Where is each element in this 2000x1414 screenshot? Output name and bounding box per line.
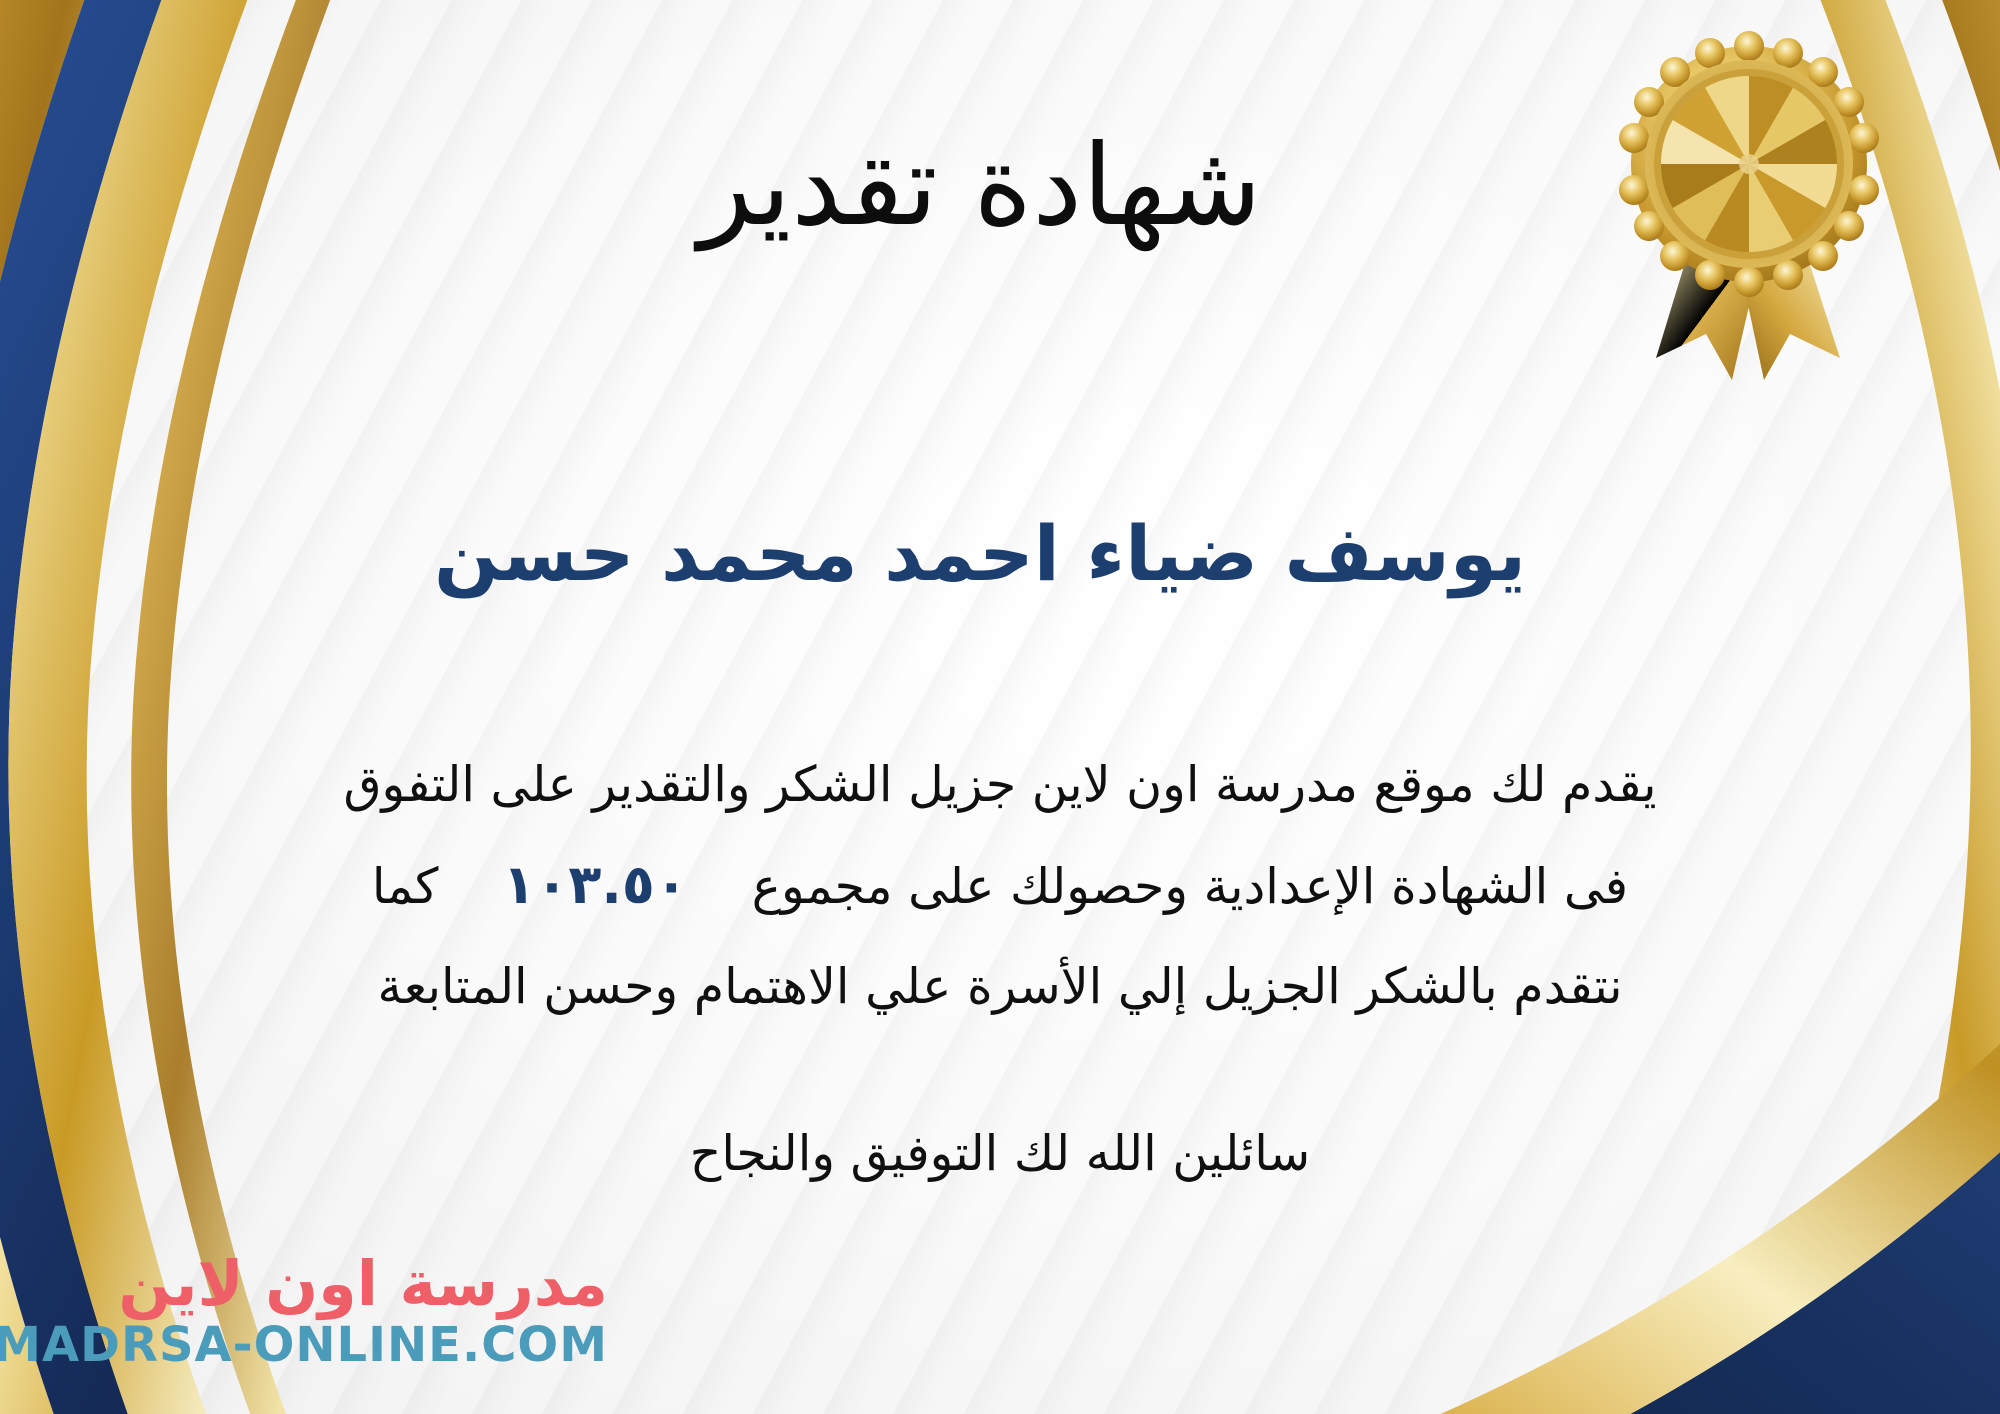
certificate-body: يقدم لك موقع مدرسة اون لاين جزيل الشكر و… [0, 735, 2000, 1037]
certificate-card: شهادة تقدير يوسف ضياء احمد محمد حسن يقدم… [0, 0, 2000, 1414]
body-line-1: يقدم لك موقع مدرسة اون لاين جزيل الشكر و… [70, 735, 1930, 835]
brand-logo[interactable]: مدرسة اون لاين MADRSA-ONLINE.COM [18, 1236, 608, 1386]
body-line-2-prefix: فى الشهادة الإعدادية وحصولك على مجموع [752, 858, 1628, 915]
score-value: ١٠٣.٥٠ [476, 853, 713, 916]
body-line-3: نتقدم بالشكر الجزيل إلي الأسرة علي الاهت… [70, 937, 1930, 1037]
body-line-2: فى الشهادة الإعدادية وحصولك على مجموع١٠٣… [70, 835, 1930, 937]
brand-website[interactable]: MADRSA-ONLINE.COM [0, 1321, 608, 1369]
page-title: شهادة تقدير [0, 128, 2000, 246]
brand-text-block: مدرسة اون لاين MADRSA-ONLINE.COM [0, 1253, 608, 1369]
body-line-2-suffix: كما [372, 858, 439, 915]
closing-line: سائلين الله لك التوفيق والنجاح [0, 1122, 2000, 1186]
recipient-name: يوسف ضياء احمد محمد حسن [0, 512, 2000, 596]
brand-arabic-name: مدرسة اون لاين [118, 1253, 608, 1315]
